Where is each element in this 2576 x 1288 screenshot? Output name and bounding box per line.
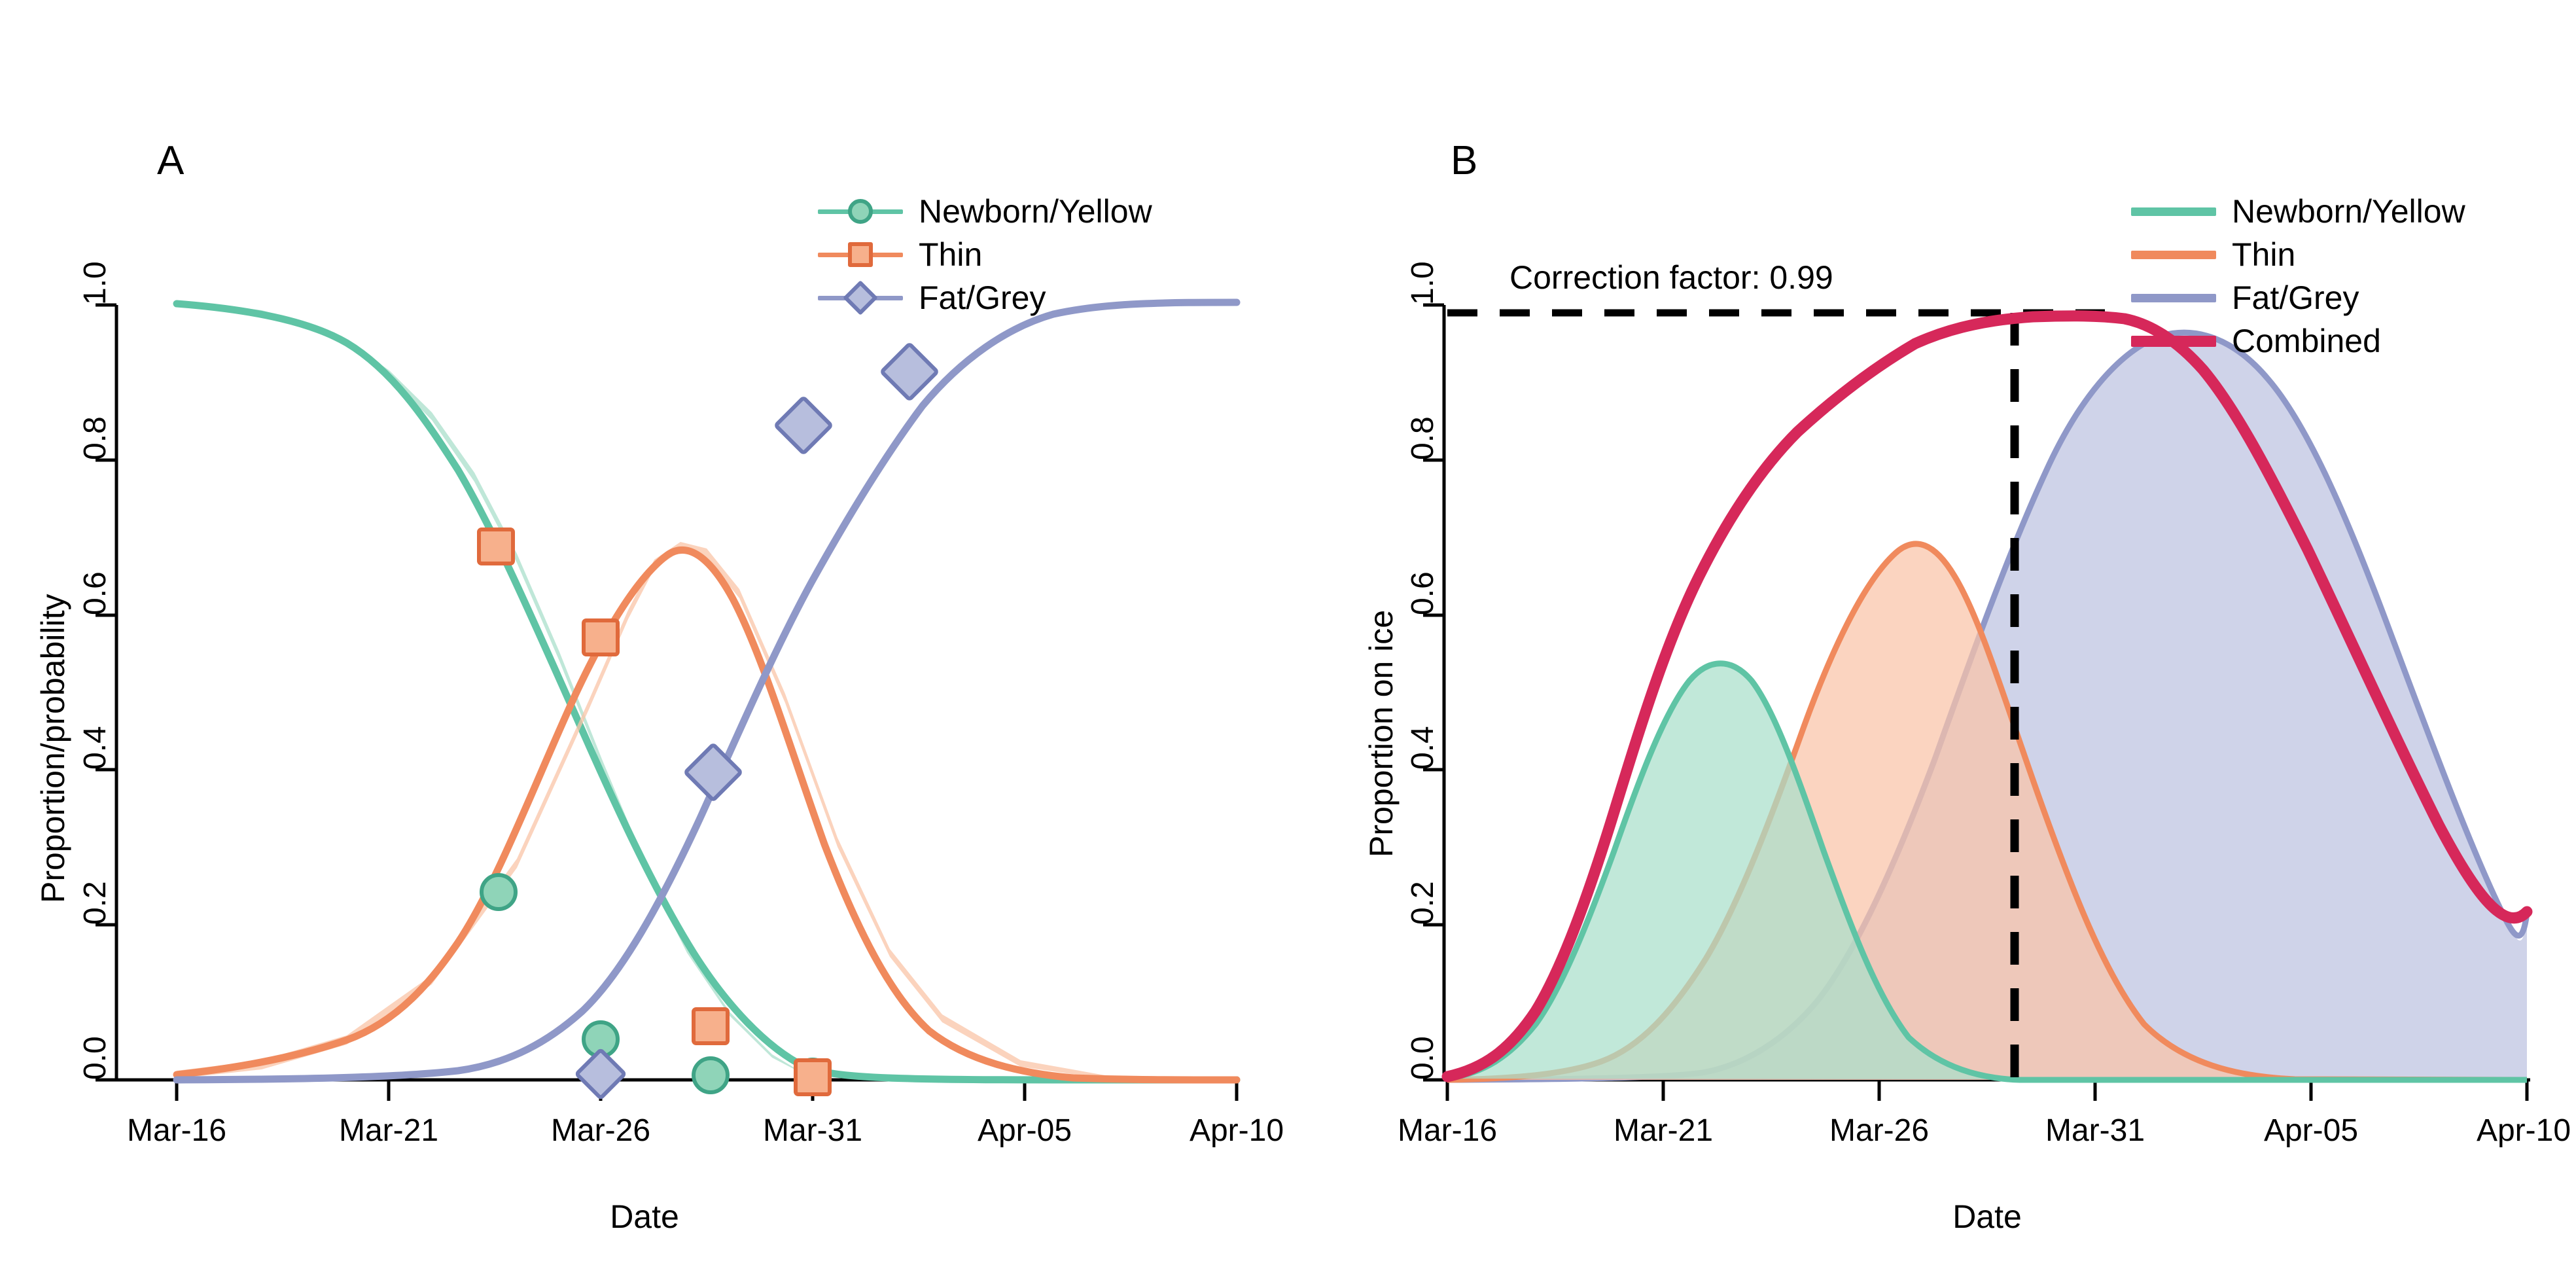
panel-a-fat-line <box>177 302 1237 1080</box>
panel-b-ytick-1: 0.2 <box>1405 881 1441 925</box>
legend-key-thin <box>2125 233 2223 276</box>
legend-item-fat[interactable]: Fat/Grey <box>2125 276 2465 319</box>
square-icon <box>848 242 873 267</box>
panel-a-ytick-2: 0.4 <box>77 726 113 770</box>
panel-a-ytick-0: 0.0 <box>77 1036 113 1080</box>
legend-key-fat <box>2125 276 2223 319</box>
legend-key-newborn <box>811 190 909 233</box>
panel-b-x-ticks <box>1447 1080 2527 1101</box>
panel-b: B <box>1287 0 2576 1288</box>
panel-b-xtick-5: Apr-10 <box>2477 1113 2571 1149</box>
panel-b-correction-annotation: Correction factor: 0.99 <box>1509 259 1833 296</box>
legend-key-thin <box>811 233 909 276</box>
panel-a-xtick-4: Apr-05 <box>978 1113 1072 1149</box>
panel-b-ytick-5: 1.0 <box>1405 261 1441 305</box>
panel-b-xtick-1: Mar-21 <box>1614 1113 1713 1149</box>
panel-b-xtick-0: Mar-16 <box>1398 1113 1497 1149</box>
panel-a-ylabel: Proportion/probability <box>34 594 72 904</box>
panel-a-thin-line <box>177 550 1237 1080</box>
legend-label-thin: Thin <box>909 236 982 274</box>
legend-item-newborn[interactable]: Newborn/Yellow <box>811 190 1152 233</box>
diamond-icon <box>843 280 878 315</box>
legend-item-fat[interactable]: Fat/Grey <box>811 276 1152 319</box>
panel-b-ytick-2: 0.4 <box>1405 726 1441 770</box>
legend-label-thin: Thin <box>2223 236 2295 274</box>
legend-label-newborn: Newborn/Yellow <box>909 192 1152 230</box>
panel-b-xlabel: Date <box>1856 1198 2118 1236</box>
panel-b-xtick-3: Mar-31 <box>2045 1113 2145 1149</box>
panel-b-xtick-4: Apr-05 <box>2264 1113 2358 1149</box>
panel-a-xtick-2: Mar-26 <box>551 1113 650 1149</box>
legend-item-newborn[interactable]: Newborn/Yellow <box>2125 190 2465 233</box>
legend-item-combined[interactable]: Combined <box>2125 319 2465 363</box>
legend-key-fat <box>811 276 909 319</box>
panel-b-legend: Newborn/Yellow Thin Fat/Grey Combined <box>2125 190 2465 363</box>
panel-a-xtick-3: Mar-31 <box>763 1113 862 1149</box>
panel-b-ytick-3: 0.6 <box>1405 571 1441 615</box>
legend-label-fat: Fat/Grey <box>909 279 1046 317</box>
panel-a-xtick-0: Mar-16 <box>127 1113 226 1149</box>
legend-label-newborn: Newborn/Yellow <box>2223 192 2465 230</box>
panel-b-ylabel: Proportion on ice <box>1362 610 1400 857</box>
panel-a-ytick-1: 0.2 <box>77 881 113 925</box>
panel-a-xtick-1: Mar-21 <box>339 1113 438 1149</box>
legend-label-combined: Combined <box>2223 322 2381 360</box>
legend-item-thin[interactable]: Thin <box>811 233 1152 276</box>
panel-b-ytick-0: 0.0 <box>1405 1036 1441 1080</box>
panel-a-xtick-5: Apr-10 <box>1190 1113 1284 1149</box>
panel-b-ytick-4: 0.8 <box>1405 416 1441 460</box>
panel-a-ytick-5: 1.0 <box>77 261 113 305</box>
legend-item-thin[interactable]: Thin <box>2125 233 2465 276</box>
panel-a-ytick-3: 0.6 <box>77 571 113 615</box>
legend-key-newborn <box>2125 190 2223 233</box>
panel-a-newborn-line <box>177 304 1237 1080</box>
circle-icon <box>848 199 873 224</box>
legend-key-combined <box>2125 319 2223 363</box>
panel-a: A <box>0 0 1289 1288</box>
panel-a-ytick-4: 0.8 <box>77 416 113 460</box>
panel-a-legend: Newborn/Yellow Thin Fat/Grey <box>811 190 1152 319</box>
panel-b-xtick-2: Mar-26 <box>1829 1113 1929 1149</box>
figure-root: A <box>0 0 2576 1288</box>
legend-label-fat: Fat/Grey <box>2223 279 2359 317</box>
panel-a-xlabel: Date <box>514 1198 775 1236</box>
